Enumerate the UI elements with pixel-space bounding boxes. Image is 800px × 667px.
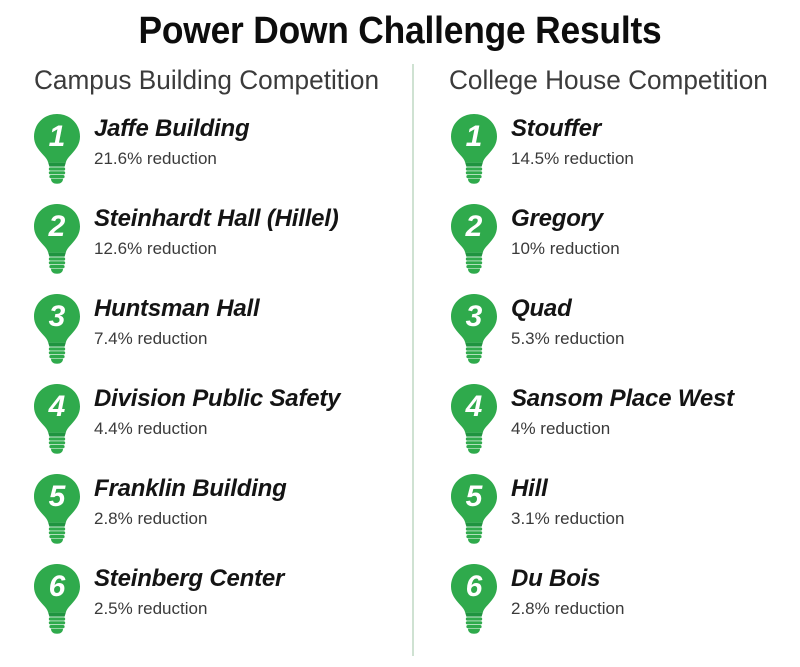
- entry-text: Jaffe Building 21.6% reduction: [84, 110, 249, 171]
- entry-text: Stouffer 14.5% reduction: [501, 110, 634, 171]
- list-item: 3 Quad 5.3% reduction: [447, 290, 797, 380]
- list-item: 4 Division Public Safety 4.4% reduction: [30, 380, 405, 470]
- entry-text: Steinhardt Hall (Hillel) 12.6% reduction: [84, 200, 339, 261]
- column-header-college-house: College House Competition: [449, 64, 787, 96]
- list-item: 5 Franklin Building 2.8% reduction: [30, 470, 405, 560]
- entry-text: Quad 5.3% reduction: [501, 290, 624, 351]
- entry-text: Franklin Building 2.8% reduction: [84, 470, 287, 531]
- entry-name: Gregory: [511, 204, 620, 234]
- list-item: 2 Steinhardt Hall (Hillel) 12.6% reducti…: [30, 200, 405, 290]
- power-down-challenge-infographic: Power Down Challenge Results Campus Buil…: [0, 0, 800, 667]
- page-title: Power Down Challenge Results: [28, 9, 772, 53]
- lightbulb-icon: 3: [30, 292, 84, 364]
- lightbulb-icon: 2: [447, 202, 501, 274]
- column-divider: [412, 64, 414, 656]
- lightbulb-icon: 1: [447, 112, 501, 184]
- entry-text: Steinberg Center 2.5% reduction: [84, 560, 284, 621]
- entry-stat: 10% reduction: [511, 237, 620, 261]
- entry-stat: 2.8% reduction: [94, 507, 287, 531]
- entry-name: Steinberg Center: [94, 564, 284, 594]
- lightbulb-icon: 4: [30, 382, 84, 454]
- entry-name: Franklin Building: [94, 474, 287, 504]
- entry-name: Quad: [511, 294, 624, 324]
- entry-text: Division Public Safety 4.4% reduction: [84, 380, 340, 441]
- list-item: 6 Steinberg Center 2.5% reduction: [30, 560, 405, 650]
- entry-text: Huntsman Hall 7.4% reduction: [84, 290, 259, 351]
- entry-text: Hill 3.1% reduction: [501, 470, 624, 531]
- column-header-campus-building: Campus Building Competition: [34, 64, 394, 96]
- lightbulb-icon: 6: [447, 562, 501, 634]
- campus-building-rank-list: 1 Jaffe Building 21.6% reduction: [30, 110, 405, 650]
- entry-stat: 14.5% reduction: [511, 147, 634, 171]
- lightbulb-icon: 5: [30, 472, 84, 544]
- entry-name: Sansom Place West: [511, 384, 734, 414]
- lightbulb-icon: 2: [30, 202, 84, 274]
- entry-stat: 4% reduction: [511, 417, 734, 441]
- entry-text: Gregory 10% reduction: [501, 200, 620, 261]
- entry-stat: 2.8% reduction: [511, 597, 624, 621]
- entry-stat: 2.5% reduction: [94, 597, 284, 621]
- entry-name: Stouffer: [511, 114, 634, 144]
- entry-stat: 5.3% reduction: [511, 327, 624, 351]
- list-item: 6 Du Bois 2.8% reduction: [447, 560, 797, 650]
- entry-stat: 21.6% reduction: [94, 147, 249, 171]
- college-house-competition-column: College House Competition 1 Stouffer: [447, 64, 797, 650]
- entry-stat: 3.1% reduction: [511, 507, 624, 531]
- lightbulb-icon: 3: [447, 292, 501, 364]
- list-item: 5 Hill 3.1% reduction: [447, 470, 797, 560]
- list-item: 1 Jaffe Building 21.6% reduction: [30, 110, 405, 200]
- entry-stat: 4.4% reduction: [94, 417, 340, 441]
- college-house-rank-list: 1 Stouffer 14.5% reduction: [447, 110, 797, 650]
- lightbulb-icon: 1: [30, 112, 84, 184]
- entry-name: Hill: [511, 474, 624, 504]
- list-item: 4 Sansom Place West 4% reduction: [447, 380, 797, 470]
- entry-name: Division Public Safety: [94, 384, 340, 414]
- list-item: 3 Huntsman Hall 7.4% reduction: [30, 290, 405, 380]
- entry-text: Du Bois 2.8% reduction: [501, 560, 624, 621]
- entry-name: Steinhardt Hall (Hillel): [94, 204, 339, 234]
- entry-stat: 12.6% reduction: [94, 237, 339, 261]
- entry-name: Jaffe Building: [94, 114, 249, 144]
- entry-name: Du Bois: [511, 564, 624, 594]
- entry-stat: 7.4% reduction: [94, 327, 259, 351]
- entry-name: Huntsman Hall: [94, 294, 259, 324]
- campus-building-competition-column: Campus Building Competition 1 Jaffe Buil: [30, 64, 405, 650]
- list-item: 1 Stouffer 14.5% reduction: [447, 110, 797, 200]
- lightbulb-icon: 5: [447, 472, 501, 544]
- entry-text: Sansom Place West 4% reduction: [501, 380, 734, 441]
- lightbulb-icon: 4: [447, 382, 501, 454]
- lightbulb-icon: 6: [30, 562, 84, 634]
- list-item: 2 Gregory 10% reduction: [447, 200, 797, 290]
